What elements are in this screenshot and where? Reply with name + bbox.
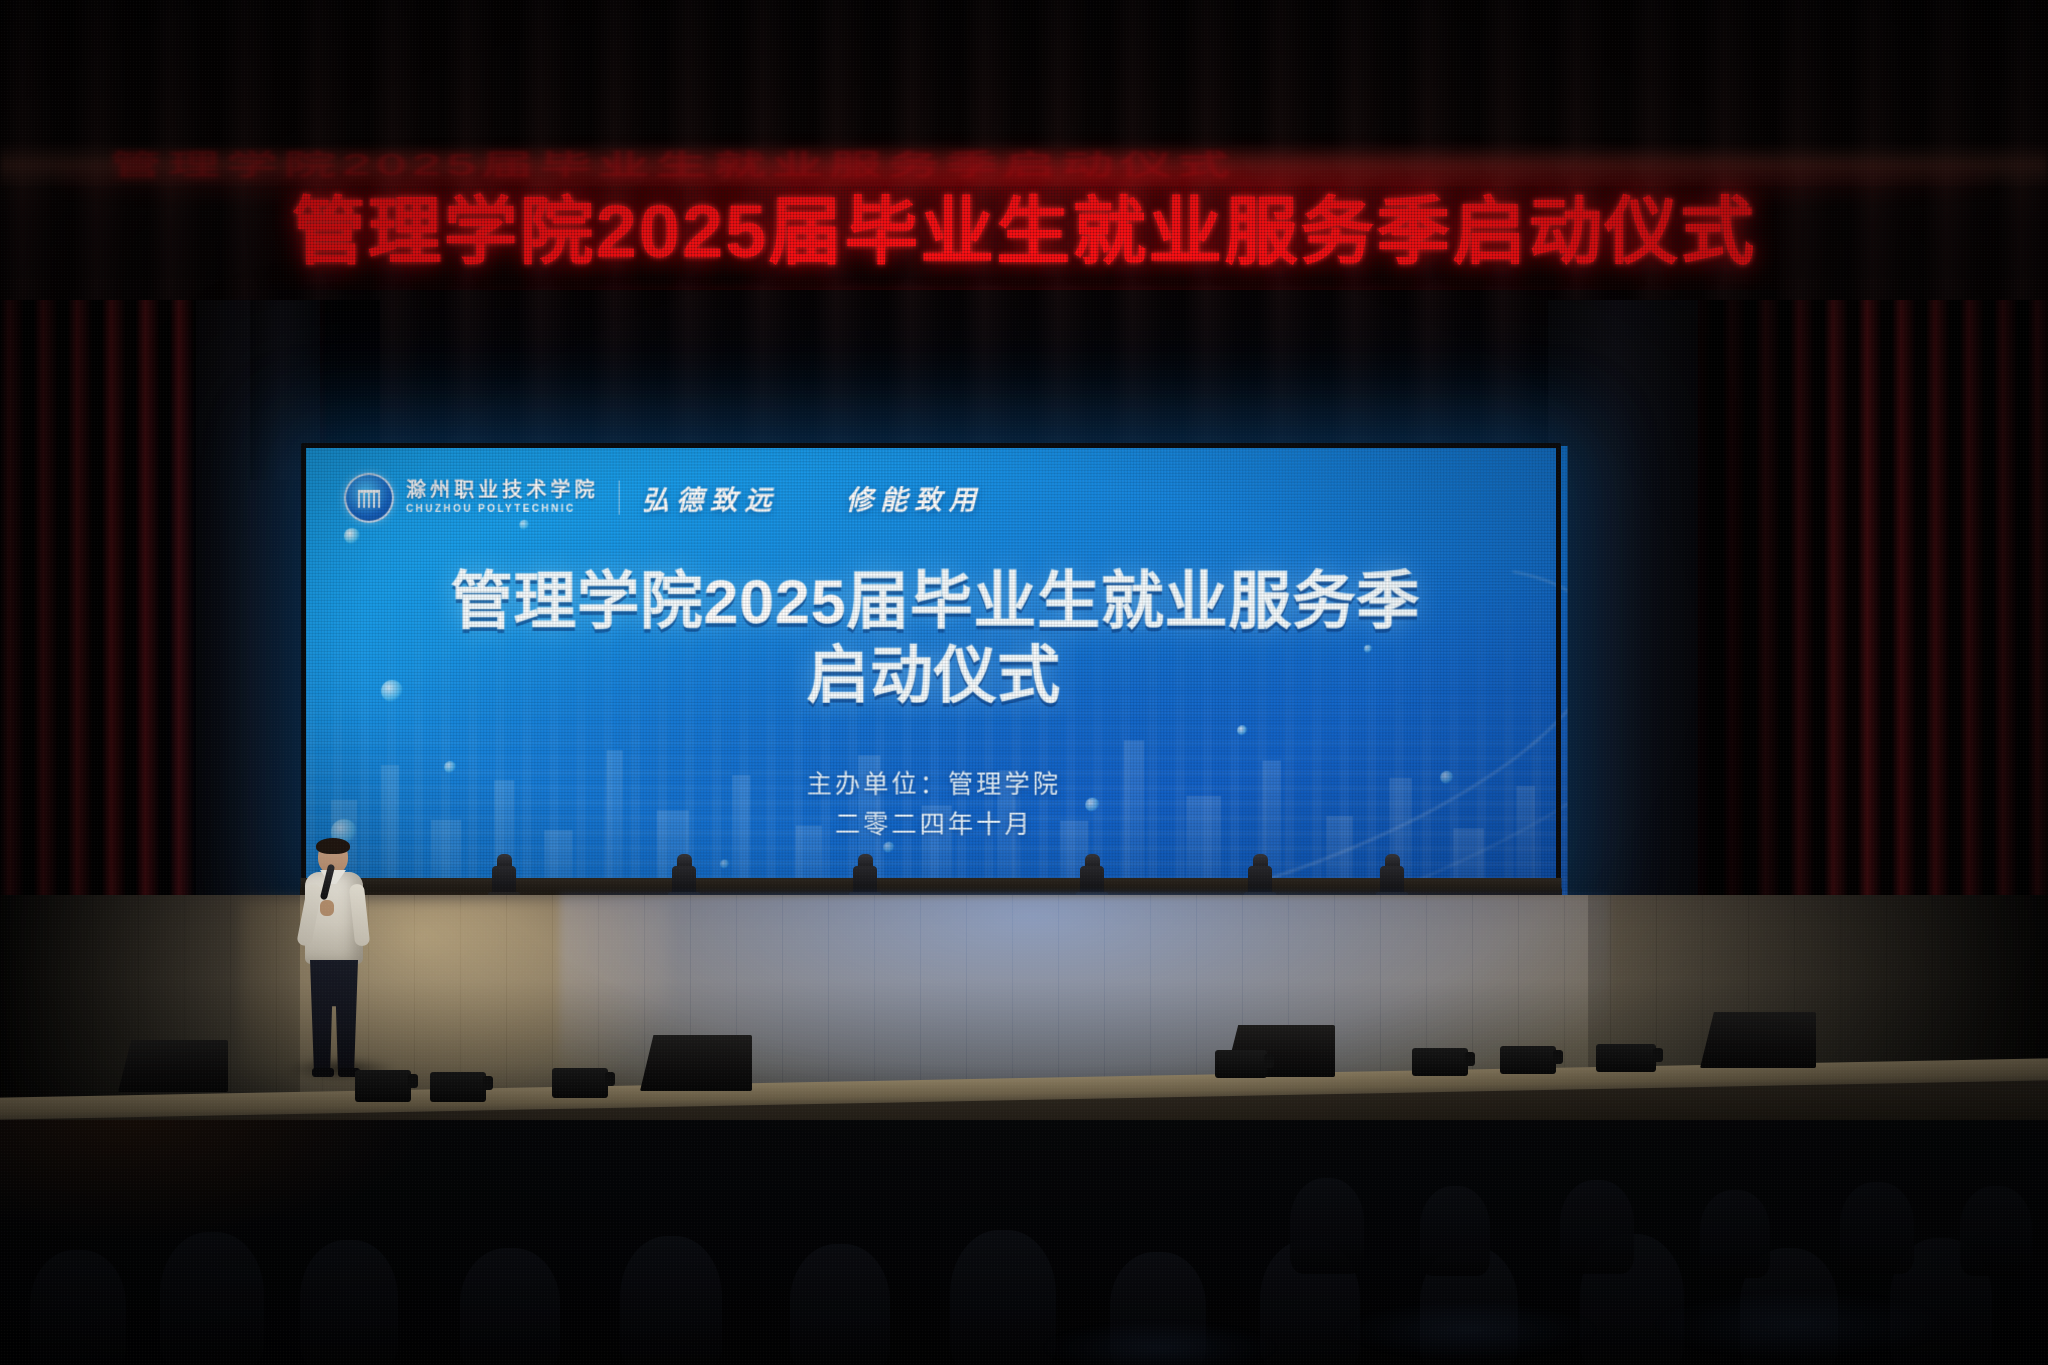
presenter-trousers xyxy=(310,960,358,1070)
floor-equipment-case xyxy=(1500,1046,1556,1074)
audience-silhouette xyxy=(620,1236,722,1365)
presenter xyxy=(300,840,370,1080)
floor-equipment-case xyxy=(1412,1048,1468,1076)
led-banner: 管理学院2025届毕业生就业服务季启动仪式 管理学院2025届毕业生就业服务季启… xyxy=(0,130,2048,290)
audience-silhouette xyxy=(160,1232,264,1365)
screen-title: 管理学院2025届毕业生就业服务季 启动仪式 xyxy=(306,565,1567,714)
main-led-screen: 滁州职业技术学院 CHUZHOU POLYTECHNIC 弘德致远 修能致用 管… xyxy=(306,448,1556,895)
screen-title-line-1: 管理学院2025届毕业生就业服务季 xyxy=(306,565,1567,640)
stage-monitor-wedge xyxy=(118,1040,228,1092)
stage-photograph: 管理学院2025届毕业生就业服务季启动仪式 管理学院2025届毕业生就业服务季启… xyxy=(0,0,2048,1365)
led-screen-surface: 滁州职业技术学院 CHUZHOU POLYTECHNIC 弘德致远 修能致用 管… xyxy=(306,446,1567,897)
led-banner-ghost-text: 管理学院2025届毕业生就业服务季启动仪式 xyxy=(110,148,1810,182)
screen-subtitle: 主办单位：管理学院 二零二四年十月 xyxy=(306,764,1567,846)
floor-equipment-case xyxy=(1596,1044,1656,1072)
house-warm-glow xyxy=(0,1120,420,1240)
audience-silhouette xyxy=(1960,1186,2032,1276)
seat-rim-light xyxy=(1340,1300,1600,1360)
school-name-block: 滁州职业技术学院 CHUZHOU POLYTECHNIC xyxy=(406,480,599,515)
audience-silhouette xyxy=(30,1250,126,1365)
school-motto-left: 弘德致远 xyxy=(642,485,779,516)
audience-silhouette xyxy=(1420,1186,1490,1276)
presenter-hair xyxy=(316,838,350,854)
stage-monitor-wedge xyxy=(640,1035,752,1091)
audience-silhouette xyxy=(1290,1178,1364,1274)
school-name-en: CHUZHOU POLYTECHNIC xyxy=(406,504,599,515)
audience-silhouette xyxy=(790,1244,890,1365)
screen-header: 滁州职业技术学院 CHUZHOU POLYTECHNIC 弘德致远 修能致用 xyxy=(344,468,1529,526)
seat-rim-light xyxy=(1650,1290,1950,1360)
floor-equipment-case xyxy=(430,1072,486,1102)
led-banner-text: 管理学院2025届毕业生就业服务季启动仪式 xyxy=(0,186,2048,278)
audience-silhouette xyxy=(1840,1182,1914,1274)
presenter-hand xyxy=(320,900,334,916)
screen-subtitle-line-2: 二零二四年十月 xyxy=(306,804,1567,846)
floor-equipment-case xyxy=(552,1068,608,1098)
floor-equipment-case xyxy=(1215,1050,1267,1078)
audience-silhouette xyxy=(1700,1190,1770,1278)
led-banner-reflection xyxy=(300,288,1760,290)
audience-silhouette xyxy=(300,1240,398,1365)
screen-bokeh-dot xyxy=(720,860,729,869)
screen-title-line-2: 启动仪式 xyxy=(306,640,1567,715)
school-motto-right: 修能致用 xyxy=(846,485,983,516)
header-divider xyxy=(619,481,620,515)
school-name-cn: 滁州职业技术学院 xyxy=(406,480,599,501)
stage-monitor-wedge xyxy=(1700,1012,1816,1068)
floor-equipment-case xyxy=(355,1070,411,1102)
school-motto: 弘德致远 修能致用 xyxy=(642,478,983,518)
school-emblem-icon xyxy=(344,473,394,523)
audience-silhouette xyxy=(460,1248,560,1365)
screen-bokeh-dot xyxy=(344,528,360,544)
audience-silhouette xyxy=(1560,1180,1634,1274)
presenter-shoe xyxy=(312,1068,334,1077)
screen-subtitle-line-1: 主办单位：管理学院 xyxy=(306,764,1567,805)
